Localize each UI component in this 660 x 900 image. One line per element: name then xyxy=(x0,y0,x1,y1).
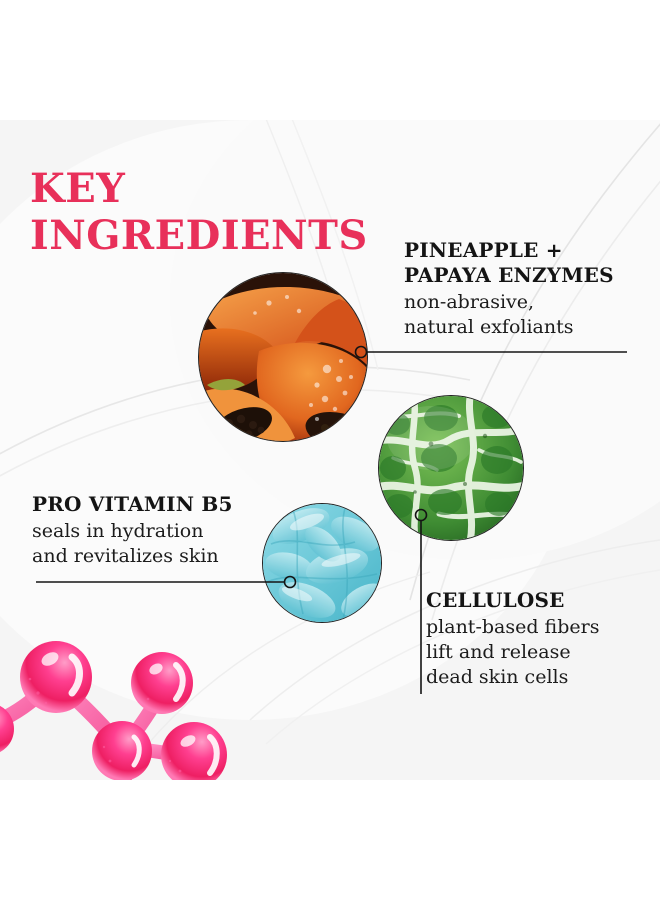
ingredient-swatch-cellulose[interactable] xyxy=(378,395,524,541)
connector-line-pineapple-papaya xyxy=(352,342,632,362)
ingredient-block-pineapple-papaya: PINEAPPLE + PAPAYA ENZYMES non-abrasive,… xyxy=(404,238,654,340)
ingredient-heading-pineapple-papaya: PINEAPPLE + PAPAYA ENZYMES xyxy=(404,238,654,288)
page-title: KEY INGREDIENTS xyxy=(30,165,450,259)
letterbox-bottom xyxy=(0,780,660,900)
ingredient-description-cellulose: plant-based fibers lift and release dead… xyxy=(426,615,646,690)
ingredient-description-pro-vitamin-b5: seals in hydration and revitalizes skin xyxy=(32,519,282,569)
letterbox-top xyxy=(0,0,660,120)
key-ingredients-panel: KEY INGREDIENTS xyxy=(0,120,660,780)
ingredient-heading-cellulose: CELLULOSE xyxy=(426,588,646,613)
ingredient-swatch-pineapple-papaya[interactable] xyxy=(198,272,368,442)
molecule-decoration-icon xyxy=(0,615,250,780)
ingredient-block-pro-vitamin-b5: PRO VITAMIN B5 seals in hydration and re… xyxy=(32,492,282,569)
ingredient-heading-pro-vitamin-b5: PRO VITAMIN B5 xyxy=(32,492,282,517)
ingredient-description-pineapple-papaya: non-abrasive, natural exfoliants xyxy=(404,290,654,340)
connector-line-pro-vitamin-b5 xyxy=(32,572,302,592)
ingredient-block-cellulose: CELLULOSE plant-based fibers lift and re… xyxy=(426,588,646,690)
